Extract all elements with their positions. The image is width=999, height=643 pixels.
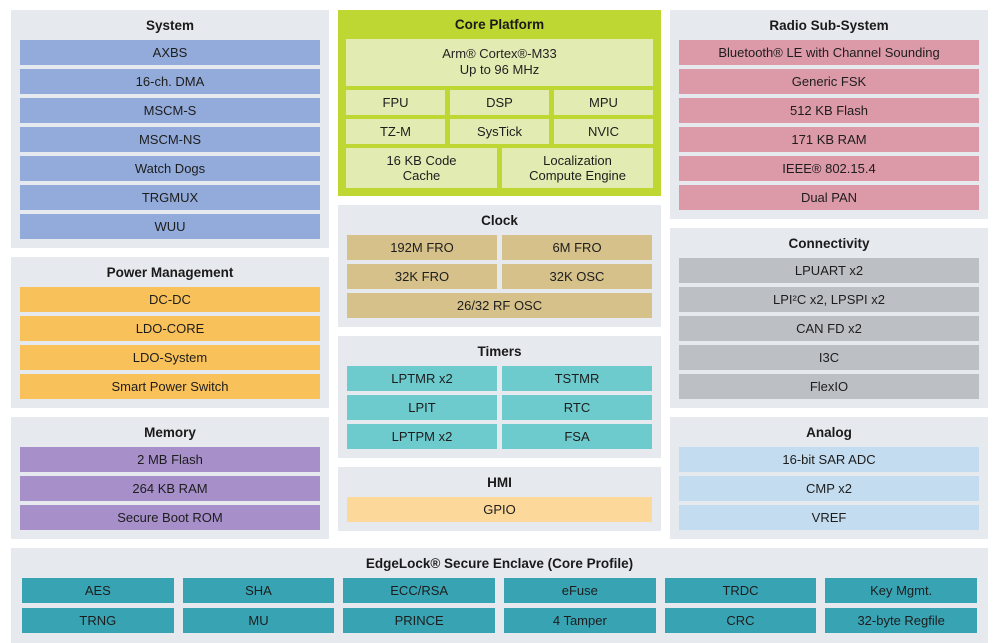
analog-block-list: 16-bit SAR ADC CMP x2 VREF <box>679 447 979 530</box>
panel-connectivity: Connectivity LPUART x2 LPI²C x2, LPSPI x… <box>670 228 988 408</box>
block-gpio[interactable]: GPIO <box>347 497 652 522</box>
enclave-block-grid: AES SHA ECC/RSA eFuse TRDC Key Mgmt. TRN… <box>22 578 977 633</box>
block-efuse[interactable]: eFuse <box>504 578 656 603</box>
block-tz-m[interactable]: TZ-M <box>346 119 445 144</box>
panel-title-analog: Analog <box>679 422 979 447</box>
block-lptmr[interactable]: LPTMR x2 <box>347 366 497 391</box>
block-lptpm[interactable]: LPTPM x2 <box>347 424 497 449</box>
timers-row-2: LPIT RTC <box>347 395 652 420</box>
block-32k-fro[interactable]: 32K FRO <box>347 264 497 289</box>
clock-row-1: 192M FRO 6M FRO <box>347 235 652 260</box>
block-dsp[interactable]: DSP <box>450 90 549 115</box>
block-trng[interactable]: TRNG <box>22 608 174 633</box>
panel-hmi: HMI GPIO <box>338 467 661 531</box>
panel-title-radio-sub-system: Radio Sub-System <box>679 15 979 40</box>
memory-block-list: 2 MB Flash 264 KB RAM Secure Boot ROM <box>20 447 320 530</box>
code-cache-line-1: 16 KB Code <box>348 153 495 168</box>
block-mu[interactable]: MU <box>183 608 335 633</box>
block-systick[interactable]: SysTick <box>450 119 549 144</box>
block-sar-adc[interactable]: 16-bit SAR ADC <box>679 447 979 472</box>
right-column: Radio Sub-System Bluetooth® LE with Chan… <box>670 10 988 539</box>
block-ldo-core[interactable]: LDO-CORE <box>20 316 320 341</box>
block-cmp[interactable]: CMP x2 <box>679 476 979 501</box>
timers-block-list: LPTMR x2 TSTMR LPIT RTC LPTPM x2 FSA <box>347 366 652 449</box>
block-fpu[interactable]: FPU <box>346 90 445 115</box>
block-192m-fro[interactable]: 192M FRO <box>347 235 497 260</box>
block-can-fd[interactable]: CAN FD x2 <box>679 316 979 341</box>
clock-row-2: 32K FRO 32K OSC <box>347 264 652 289</box>
panel-memory: Memory 2 MB Flash 264 KB RAM Secure Boot… <box>11 417 329 539</box>
panel-title-connectivity: Connectivity <box>679 233 979 258</box>
block-ldo-system[interactable]: LDO-System <box>20 345 320 370</box>
block-axbs[interactable]: AXBS <box>20 40 320 65</box>
block-crc[interactable]: CRC <box>665 608 817 633</box>
panel-title-clock: Clock <box>347 210 652 235</box>
panel-radio-sub-system: Radio Sub-System Bluetooth® LE with Chan… <box>670 10 988 219</box>
block-vref[interactable]: VREF <box>679 505 979 530</box>
panel-analog: Analog 16-bit SAR ADC CMP x2 VREF <box>670 417 988 539</box>
block-dma[interactable]: 16-ch. DMA <box>20 69 320 94</box>
system-block-list: AXBS 16-ch. DMA MSCM-S MSCM-NS Watch Dog… <box>20 40 320 239</box>
block-code-cache[interactable]: 16 KB Code Cache <box>346 148 497 188</box>
block-radio-ram-171kb[interactable]: 171 KB RAM <box>679 127 979 152</box>
block-mscm-ns[interactable]: MSCM-NS <box>20 127 320 152</box>
middle-column: Core Platform Arm® Cortex®-M33 Up to 96 … <box>338 10 661 531</box>
panel-power-management: Power Management DC-DC LDO-CORE LDO-Syst… <box>11 257 329 408</box>
panel-timers: Timers LPTMR x2 TSTMR LPIT RTC LPTPM x2 … <box>338 336 661 458</box>
block-nvic[interactable]: NVIC <box>554 119 653 144</box>
block-flash-2mb[interactable]: 2 MB Flash <box>20 447 320 472</box>
panel-title-timers: Timers <box>347 341 652 366</box>
block-6m-fro[interactable]: 6M FRO <box>502 235 652 260</box>
left-column: System AXBS 16-ch. DMA MSCM-S MSCM-NS Wa… <box>11 10 329 539</box>
block-rf-osc[interactable]: 26/32 RF OSC <box>347 293 652 318</box>
block-fsa[interactable]: FSA <box>502 424 652 449</box>
timers-row-1: LPTMR x2 TSTMR <box>347 366 652 391</box>
block-32-byte-regfile[interactable]: 32-byte Regfile <box>825 608 977 633</box>
block-lpit[interactable]: LPIT <box>347 395 497 420</box>
cpu-frequency: Up to 96 MHz <box>348 62 651 78</box>
connectivity-block-list: LPUART x2 LPI²C x2, LPSPI x2 CAN FD x2 I… <box>679 258 979 399</box>
block-wuu[interactable]: WUU <box>20 214 320 239</box>
localization-line-2: Compute Engine <box>504 168 651 183</box>
core-row-2: TZ-M SysTick NVIC <box>346 119 653 144</box>
block-ecc-rsa[interactable]: ECC/RSA <box>343 578 495 603</box>
block-ieee-802-15-4[interactable]: IEEE® 802.15.4 <box>679 156 979 181</box>
core-row-1: FPU DSP MPU <box>346 90 653 115</box>
block-32k-osc[interactable]: 32K OSC <box>502 264 652 289</box>
panel-system: System AXBS 16-ch. DMA MSCM-S MSCM-NS Wa… <box>11 10 329 248</box>
panel-title-hmi: HMI <box>347 472 652 497</box>
block-bluetooth-le[interactable]: Bluetooth® LE with Channel Sounding <box>679 40 979 65</box>
panel-core-platform: Core Platform Arm® Cortex®-M33 Up to 96 … <box>338 10 661 196</box>
block-radio-flash-512kb[interactable]: 512 KB Flash <box>679 98 979 123</box>
block-prince[interactable]: PRINCE <box>343 608 495 633</box>
panel-title-memory: Memory <box>20 422 320 447</box>
panel-title-system: System <box>20 15 320 40</box>
block-lpuart[interactable]: LPUART x2 <box>679 258 979 283</box>
panel-title-core-platform: Core Platform <box>346 14 653 39</box>
block-dual-pan[interactable]: Dual PAN <box>679 185 979 210</box>
code-cache-line-2: Cache <box>348 168 495 183</box>
panel-clock: Clock 192M FRO 6M FRO 32K FRO 32K OSC 26… <box>338 205 661 327</box>
panel-title-power-management: Power Management <box>20 262 320 287</box>
block-cortex-m33[interactable]: Arm® Cortex®-M33 Up to 96 MHz <box>346 39 653 86</box>
block-trdc[interactable]: TRDC <box>665 578 817 603</box>
block-smart-power-switch[interactable]: Smart Power Switch <box>20 374 320 399</box>
radio-block-list: Bluetooth® LE with Channel Sounding Gene… <box>679 40 979 210</box>
hmi-block-list: GPIO <box>347 497 652 522</box>
block-4-tamper[interactable]: 4 Tamper <box>504 608 656 633</box>
localization-line-1: Localization <box>504 153 651 168</box>
timers-row-3: LPTPM x2 FSA <box>347 424 652 449</box>
block-secure-boot-rom[interactable]: Secure Boot ROM <box>20 505 320 530</box>
clock-block-list: 192M FRO 6M FRO 32K FRO 32K OSC 26/32 RF… <box>347 235 652 318</box>
diagram-columns: System AXBS 16-ch. DMA MSCM-S MSCM-NS Wa… <box>11 10 988 539</box>
block-key-mgmt[interactable]: Key Mgmt. <box>825 578 977 603</box>
block-flexio[interactable]: FlexIO <box>679 374 979 399</box>
power-block-list: DC-DC LDO-CORE LDO-System Smart Power Sw… <box>20 287 320 399</box>
cpu-name: Arm® Cortex®-M33 <box>348 46 651 62</box>
block-rtc[interactable]: RTC <box>502 395 652 420</box>
core-row-3: 16 KB Code Cache Localization Compute En… <box>346 148 653 188</box>
block-trgmux[interactable]: TRGMUX <box>20 185 320 210</box>
block-localization-compute-engine[interactable]: Localization Compute Engine <box>502 148 653 188</box>
block-watch-dogs[interactable]: Watch Dogs <box>20 156 320 181</box>
block-i3c[interactable]: I3C <box>679 345 979 370</box>
block-tstmr[interactable]: TSTMR <box>502 366 652 391</box>
block-dc-dc[interactable]: DC-DC <box>20 287 320 312</box>
block-sha[interactable]: SHA <box>183 578 335 603</box>
core-block-list: Arm® Cortex®-M33 Up to 96 MHz FPU DSP MP… <box>346 39 653 188</box>
block-generic-fsk[interactable]: Generic FSK <box>679 69 979 94</box>
block-mscm-s[interactable]: MSCM-S <box>20 98 320 123</box>
block-mpu[interactable]: MPU <box>554 90 653 115</box>
soc-block-diagram: System AXBS 16-ch. DMA MSCM-S MSCM-NS Wa… <box>0 0 999 596</box>
block-lpi2c-lpspi[interactable]: LPI²C x2, LPSPI x2 <box>679 287 979 312</box>
block-aes[interactable]: AES <box>22 578 174 603</box>
block-ram-264kb[interactable]: 264 KB RAM <box>20 476 320 501</box>
panel-title-edgelock-secure-enclave: EdgeLock® Secure Enclave (Core Profile) <box>22 553 977 578</box>
